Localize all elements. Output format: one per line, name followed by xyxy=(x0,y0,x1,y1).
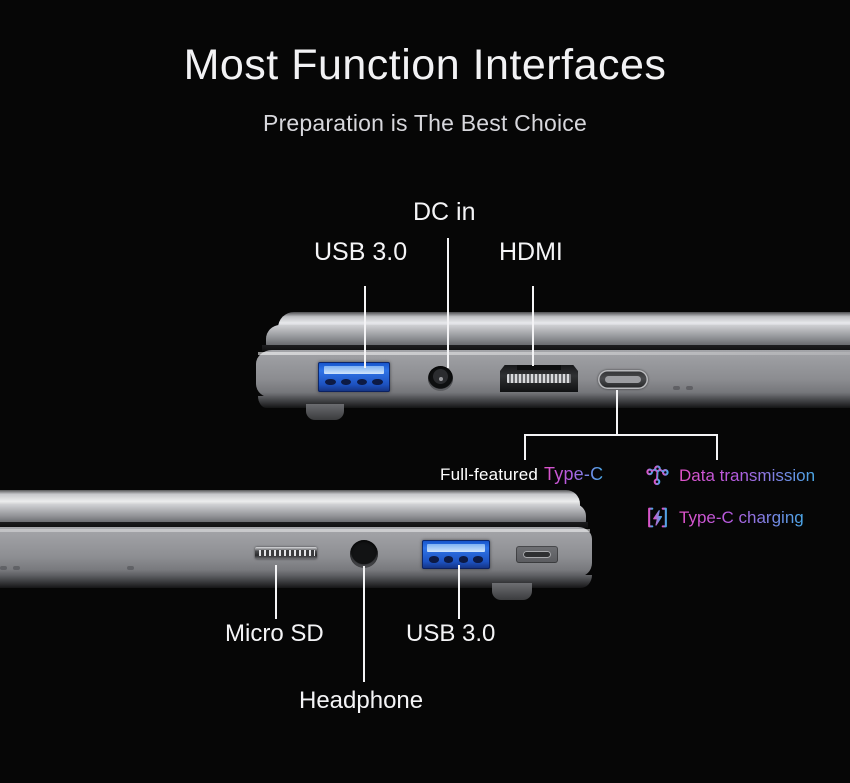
top-laptop-vent xyxy=(673,386,680,390)
top-laptop-foot xyxy=(306,404,344,420)
bottom-laptop-edge-highlight xyxy=(0,529,590,532)
label-dc-in: DC in xyxy=(413,198,476,227)
leader-type-c-right-leg xyxy=(716,434,718,460)
leader-micro-sd xyxy=(275,565,277,619)
type-c-name: Type-C xyxy=(544,464,603,484)
leader-type-c-left-leg xyxy=(524,434,526,460)
label-headphone: Headphone xyxy=(299,687,423,715)
bottom-laptop-body xyxy=(0,490,620,608)
top-laptop-vent xyxy=(686,386,693,390)
port-dc-in xyxy=(428,366,453,391)
bottom-laptop-hinge xyxy=(0,504,586,524)
port-hdmi xyxy=(500,365,578,392)
port-usb3-top xyxy=(318,362,390,392)
usb-pins xyxy=(325,379,383,386)
bottom-laptop-vent xyxy=(127,566,134,570)
page-title: Most Function Interfaces xyxy=(0,44,850,87)
port-micro-sd xyxy=(255,547,317,559)
bottom-laptop-vent xyxy=(0,566,7,570)
feature-data-transmission: Data transmission xyxy=(645,463,815,488)
leader-type-c-stem xyxy=(616,390,618,435)
data-transmission-icon xyxy=(645,463,670,488)
leader-hdmi xyxy=(532,286,534,366)
micro-sd-contacts xyxy=(259,550,315,555)
page-subtitle: Preparation is The Best Choice xyxy=(0,110,850,137)
top-laptop-edge-highlight xyxy=(258,352,850,355)
port-type-c-top xyxy=(598,370,648,389)
label-usb3-top: USB 3.0 xyxy=(314,238,407,267)
hdmi-contacts xyxy=(507,374,571,383)
port-headphone xyxy=(350,540,378,568)
feature-label: Type-C charging xyxy=(679,508,804,528)
type-c-prefix: Full-featured xyxy=(440,465,538,484)
usb-pins xyxy=(429,556,483,562)
label-hdmi: HDMI xyxy=(499,238,563,267)
feature-label: Data transmission xyxy=(679,466,815,486)
port-type-c-bottom xyxy=(516,546,558,563)
leader-usb3-bottom xyxy=(458,565,460,619)
top-laptop-underside xyxy=(258,396,850,408)
leader-type-c-bar xyxy=(524,434,718,436)
hdmi-notch xyxy=(517,365,561,370)
usb-contact-plate xyxy=(324,366,385,374)
product-graphic: Most Function Interfaces Preparation is … xyxy=(0,0,850,783)
top-laptop-body xyxy=(218,312,850,430)
feature-type-c-charging: Type-C charging xyxy=(645,505,804,530)
bottom-laptop-vent xyxy=(13,566,20,570)
top-laptop-hinge xyxy=(266,325,850,347)
type-c-charging-icon xyxy=(645,505,670,530)
leader-dc-in xyxy=(447,238,449,368)
label-micro-sd: Micro SD xyxy=(225,620,324,648)
usb-contact-plate xyxy=(427,544,484,552)
port-usb3-bottom xyxy=(422,540,490,569)
leader-usb3-top xyxy=(364,286,366,368)
bottom-laptop-foot xyxy=(492,583,532,600)
leader-headphone xyxy=(363,566,365,682)
type-c-callout: Full-featuredType-C xyxy=(440,464,603,485)
label-usb3-bottom: USB 3.0 xyxy=(406,620,495,648)
